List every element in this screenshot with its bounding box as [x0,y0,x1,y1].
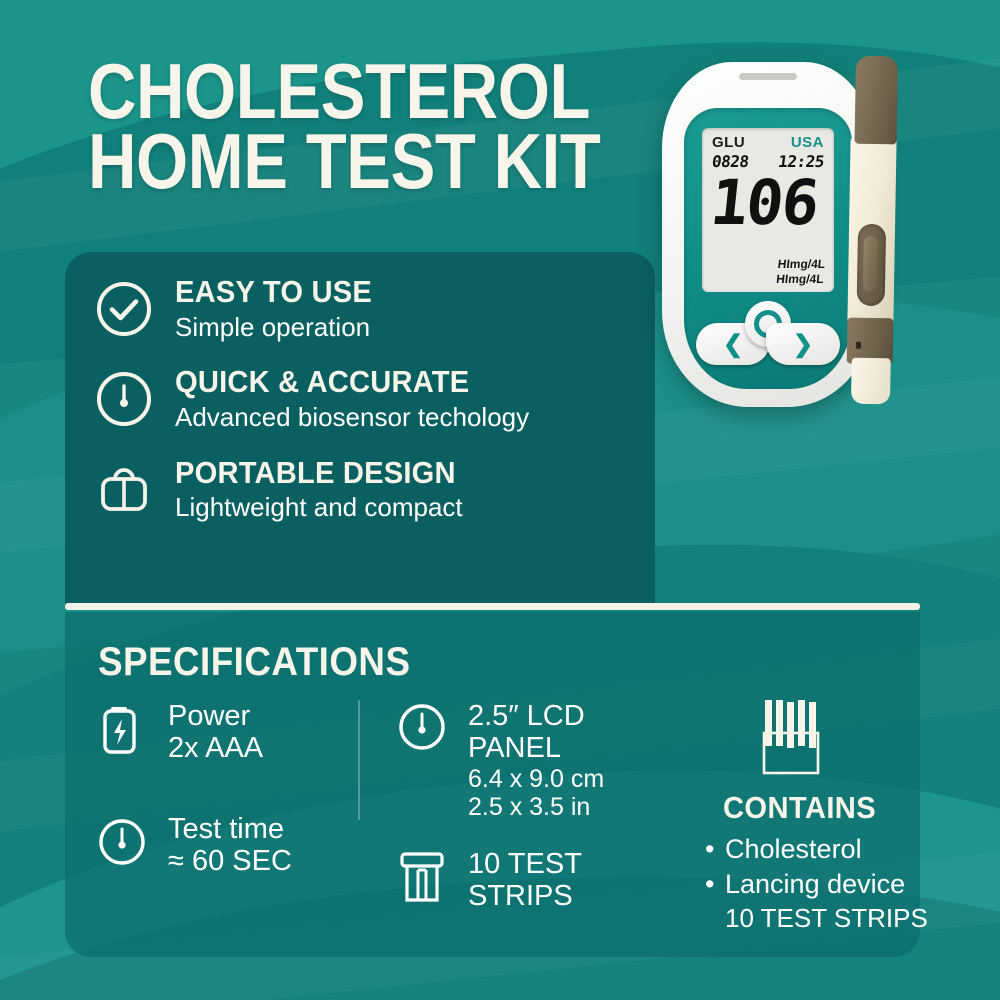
contains-heading: CONTAINS [723,790,876,826]
feature-title: QUICK & ACCURATE [175,366,508,399]
feature-title: EASY TO USE [175,276,372,309]
feature-text: QUICK & ACCURATE Advanced biosensor tech… [175,366,529,432]
meter-right-button[interactable]: ❯ [766,323,840,365]
lcd-reading: 106 [699,172,830,234]
feature-subtitle: Advanced biosensor techology [175,403,529,433]
list-item: •Lancing device [705,867,928,902]
lancet-tip [851,358,891,405]
spec-line: 2.5″ LCD [468,700,604,732]
spec-line: Test time [168,813,292,845]
test-strip-slot [739,73,797,80]
spec-column-middle: 2.5″ LCD PANEL 6.4 x 9.0 cm 2.5 x 3.5 in… [398,700,658,939]
spec-column-left: Power 2x AAA Test time ≈ 60 SEC [98,700,368,904]
spec-text: 2.5″ LCD PANEL 6.4 x 9.0 cm 2.5 x 3.5 in [468,700,604,822]
spec-line: Power [168,700,263,732]
lancing-pen [846,56,900,405]
meter-face: GLU USA 0828 12:25 106 HImg/4L HImg/4L ❮… [684,108,852,389]
title-line-1: CHOLESTEROL [88,56,604,126]
gauge-icon [98,815,148,869]
list-item: •Cholesterol [705,832,928,867]
spec-line: ≈ 60 SEC [168,845,292,877]
feature-list: EASY TO USE Simple operation QUICK & ACC… [95,276,655,547]
lcd-region: USA [791,134,824,151]
feature-item: PORTABLE DESIGN Lightweight and compact [95,457,655,523]
lcd-units: HImg/4L HImg/4L [775,257,825,287]
test-strip-vial-icon [398,850,448,904]
list-item-label: Cholesterol [725,834,862,864]
test-strips-icon [762,700,826,774]
lcd-unit-line: HImg/4L [775,272,824,287]
spec-text: 10 TEST STRIPS [468,848,582,913]
lcd-top-row: GLU USA [712,134,824,151]
lancet-release-dot [856,342,861,349]
feature-item: QUICK & ACCURATE Advanced biosensor tech… [95,366,655,432]
spec-line: 10 TEST [468,848,582,880]
title-line-2: HOME TEST KIT [88,126,604,196]
battery-icon [98,702,148,756]
spec-line: 2.5 x 3.5 in [468,793,604,822]
list-item-label: Lancing device [725,869,905,899]
spec-item: 2.5″ LCD PANEL 6.4 x 9.0 cm 2.5 x 3.5 in [398,700,658,822]
gauge-icon [398,702,448,756]
briefcase-icon [95,461,153,519]
glucose-meter: GLU USA 0828 12:25 106 HImg/4L HImg/4L ❮… [662,62,874,407]
lcd-unit-line: HImg/4L [777,257,826,272]
spec-text: Test time ≈ 60 SEC [168,813,292,878]
spec-line: 6.4 x 9.0 cm [468,765,604,794]
check-circle-icon [95,280,153,338]
section-divider [65,603,920,610]
feature-text: PORTABLE DESIGN Lightweight and compact [175,457,474,523]
spec-item: Power 2x AAA [98,700,368,765]
spec-item: Test time ≈ 60 SEC [98,813,368,878]
infographic-canvas: CHOLESTEROL HOME TEST KIT EASY TO USE Si… [0,0,1000,1000]
page-title: CHOLESTEROL HOME TEST KIT [88,56,604,196]
lcd-screen: GLU USA 0828 12:25 106 HImg/4L HImg/4L [702,128,834,292]
contains-list: •Cholesterol •Lancing device 10 TEST STR… [705,832,928,936]
feature-subtitle: Simple operation [175,313,385,343]
lancet-slider-window [857,224,886,306]
bullet-icon: • [705,832,725,867]
lancet-slider [863,236,878,292]
bullet-icon: • [705,867,725,902]
specifications-heading: SPECIFICATIONS [98,640,410,685]
gauge-icon [95,370,153,428]
lancet-cap [855,56,899,145]
feature-subtitle: Lightweight and compact [175,493,474,523]
feature-text: EASY TO USE Simple operation [175,276,385,342]
feature-title: PORTABLE DESIGN [175,457,456,490]
lcd-label: GLU [712,134,745,151]
spec-item: 10 TEST STRIPS [398,848,658,913]
spec-line: STRIPS [468,880,582,912]
spec-text: Power 2x AAA [168,700,263,765]
spec-line: PANEL [468,732,604,764]
feature-item: EASY TO USE Simple operation [95,276,655,342]
spec-line: 2x AAA [168,732,263,764]
contains-footnote: 10 TEST STRIPS [725,902,928,936]
